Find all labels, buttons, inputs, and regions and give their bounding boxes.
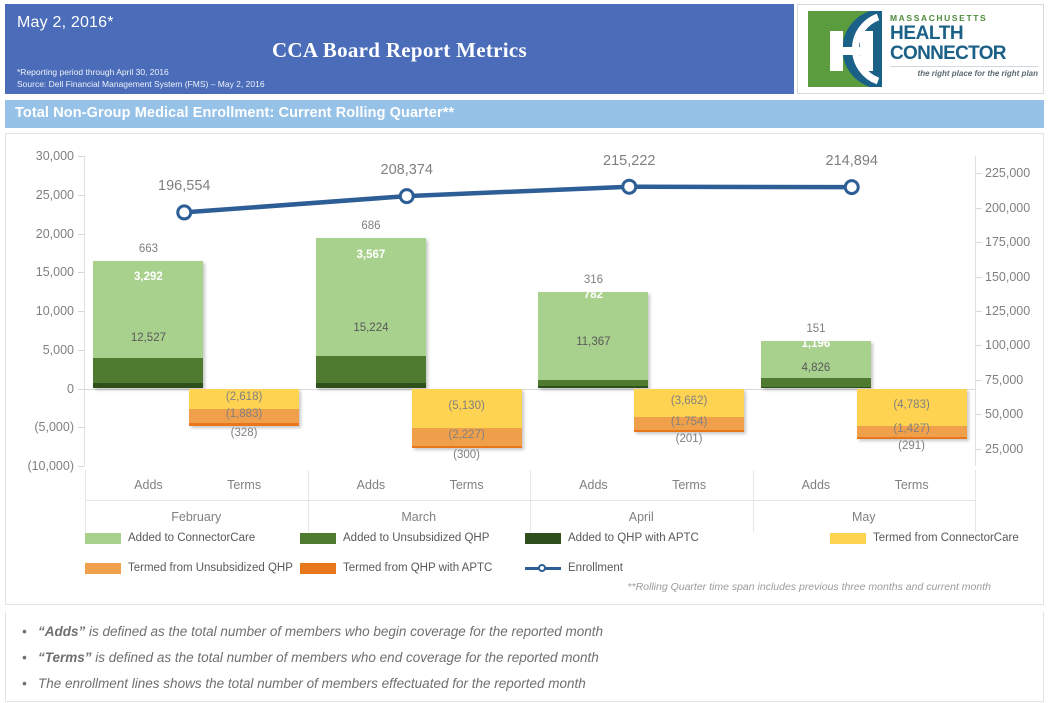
report-date: May 2, 2016* (17, 14, 114, 32)
y2-axis-tick-label: 25,000 (985, 442, 1049, 456)
legend-swatch (85, 563, 121, 574)
y-axis-line-left (84, 156, 85, 466)
legend-label: Termed from ConnectorCare (873, 532, 1019, 544)
y2-axis-tick (976, 173, 982, 174)
x-axis-month-label: April (530, 510, 753, 524)
y2-axis-tick-label: 125,000 (985, 304, 1049, 318)
data-source-note: Source: Dell Financial Management System… (17, 79, 265, 89)
definition-bullet: •“Terms” is defined as the total number … (22, 650, 599, 665)
x-axis-sublabel-adds: Adds (761, 478, 871, 492)
y2-axis-tick-label: 200,000 (985, 201, 1049, 215)
legend-swatch (300, 533, 336, 544)
chart-footnote: **Rolling Quarter time span includes pre… (6, 581, 1041, 593)
bullet-term: “Adds” (38, 624, 85, 639)
definition-bullet: •“Adds” is defined as the total number o… (22, 624, 603, 639)
x-axis-group-separator (975, 470, 976, 532)
y2-axis-tick (976, 311, 982, 312)
bullet-marker: • (22, 676, 27, 691)
legend-item[interactable]: Added to ConnectorCare (85, 532, 255, 544)
legend-item[interactable]: Termed from QHP with APTC (300, 562, 492, 574)
x-axis-sublabel-terms: Terms (634, 478, 744, 492)
legend-swatch (525, 533, 561, 544)
x-axis-group-separator (753, 470, 754, 532)
legend-swatch (830, 533, 866, 544)
definition-notes: •“Adds” is defined as the total number o… (5, 612, 1044, 702)
x-axis-group-separator (530, 470, 531, 532)
bullet-marker: • (22, 624, 27, 639)
logo-wordmark: MASSACHUSETTS HEALTH CONNECTOR the right… (890, 13, 1038, 78)
y-axis-tick-label: (10,000) (6, 459, 74, 473)
x-axis-month-label: February (85, 510, 308, 524)
y-axis-tick-label: 10,000 (6, 304, 74, 318)
logo-tagline: the right place for the right plan (890, 69, 1038, 78)
legend-item[interactable]: Added to QHP with APTC (525, 532, 699, 544)
legend-swatch (300, 563, 336, 574)
bullet-text: “Terms” is defined as the total number o… (38, 650, 599, 665)
legend-line-marker (525, 563, 561, 574)
y-axis-tick-label: 15,000 (6, 265, 74, 279)
legend-swatch (85, 533, 121, 544)
y2-axis-tick-label: 150,000 (985, 270, 1049, 284)
y2-axis-tick-label: 175,000 (985, 235, 1049, 249)
bullet-marker: • (22, 650, 27, 665)
x-axis-sublabel-adds: Adds (93, 478, 203, 492)
y-axis-tick-label: (5,000) (6, 420, 74, 434)
y2-axis-tick-label: 75,000 (985, 373, 1049, 387)
y-axis-tick (78, 466, 84, 467)
legend-item-enrollment[interactable]: Enrollment (525, 562, 623, 574)
slide-page: May 2, 2016* CCA Board Report Metrics *R… (0, 0, 1049, 703)
page-title: CCA Board Report Metrics (5, 38, 794, 63)
x-axis-sublabel-terms: Terms (412, 478, 522, 492)
legend-label: Added to ConnectorCare (128, 532, 255, 544)
legend-label: Termed from QHP with APTC (343, 562, 492, 574)
chart-plot-area: 12,5273,292663(2,618)(1,883)(328)15,2243… (85, 156, 975, 466)
x-axis-sublabel-adds: Adds (538, 478, 648, 492)
legend-item[interactable]: Termed from Unsubsidized QHP (85, 562, 293, 574)
enrollment-value-label: 196,554 (158, 178, 210, 194)
legend-label: Termed from Unsubsidized QHP (128, 562, 293, 574)
logo-line-connector: CONNECTOR (890, 44, 1038, 63)
section-banner: Total Non-Group Medical Enrollment: Curr… (5, 100, 1044, 128)
enrollment-line (85, 156, 975, 466)
enrollment-value-label: 214,894 (826, 153, 878, 169)
slide-header: May 2, 2016* CCA Board Report Metrics *R… (5, 4, 794, 94)
bullet-term: “Terms” (38, 650, 92, 665)
y2-axis-tick (976, 242, 982, 243)
organization-logo: MASSACHUSETTS HEALTH CONNECTOR the right… (797, 4, 1044, 94)
y2-axis-tick (976, 449, 982, 450)
legend-item[interactable]: Termed from ConnectorCare (830, 532, 1019, 544)
x-axis-sublabel-terms: Terms (189, 478, 299, 492)
y-axis-tick-label: 20,000 (6, 227, 74, 241)
y2-axis-tick (976, 208, 982, 209)
y-axis-tick-label: 5,000 (6, 343, 74, 357)
logo-line-massachusetts: MASSACHUSETTS (890, 13, 1038, 23)
y-axis-tick-label: 0 (6, 382, 74, 396)
x-axis-group-separator (308, 470, 309, 532)
y2-axis-tick-label: 225,000 (985, 166, 1049, 180)
x-axis-sublabel-adds: Adds (316, 478, 426, 492)
health-connector-h-icon (808, 11, 882, 87)
bullet-text: The enrollment lines shows the total num… (38, 676, 586, 691)
y-axis-line-right (975, 156, 976, 466)
legend-item[interactable]: Added to Unsubsidized QHP (300, 532, 489, 544)
section-banner-title: Total Non-Group Medical Enrollment: Curr… (15, 105, 454, 121)
x-axis-sublabel-terms: Terms (857, 478, 967, 492)
x-axis-month-label: March (308, 510, 531, 524)
legend-label: Enrollment (568, 562, 623, 574)
enrollment-chart: 12,5273,292663(2,618)(1,883)(328)15,2243… (5, 133, 1044, 605)
legend-label: Added to Unsubsidized QHP (343, 532, 489, 544)
logo-divider (890, 66, 1038, 67)
y2-axis-tick-label: 100,000 (985, 338, 1049, 352)
legend-label: Added to QHP with APTC (568, 532, 699, 544)
bullet-definition: is defined as the total number of member… (85, 624, 603, 639)
y2-axis-tick (976, 380, 982, 381)
y2-axis-tick (976, 277, 982, 278)
y2-axis-tick (976, 345, 982, 346)
x-axis-group-separator (85, 470, 86, 532)
x-axis-month-label: May (753, 510, 976, 524)
logo-line-health: HEALTH (890, 24, 1038, 43)
y2-axis-tick (976, 414, 982, 415)
y-axis-tick-label: 25,000 (6, 188, 74, 202)
definition-bullet: •The enrollment lines shows the total nu… (22, 676, 586, 691)
y2-axis-tick-label: 50,000 (985, 407, 1049, 421)
bullet-text: “Adds” is defined as the total number of… (38, 624, 603, 639)
bullet-definition: is defined as the total number of member… (92, 650, 599, 665)
enrollment-value-label: 208,374 (381, 162, 433, 178)
reporting-period-note: *Reporting period through April 30, 2016 (17, 67, 169, 77)
enrollment-value-label: 215,222 (603, 153, 655, 169)
y-axis-tick-label: 30,000 (6, 149, 74, 163)
